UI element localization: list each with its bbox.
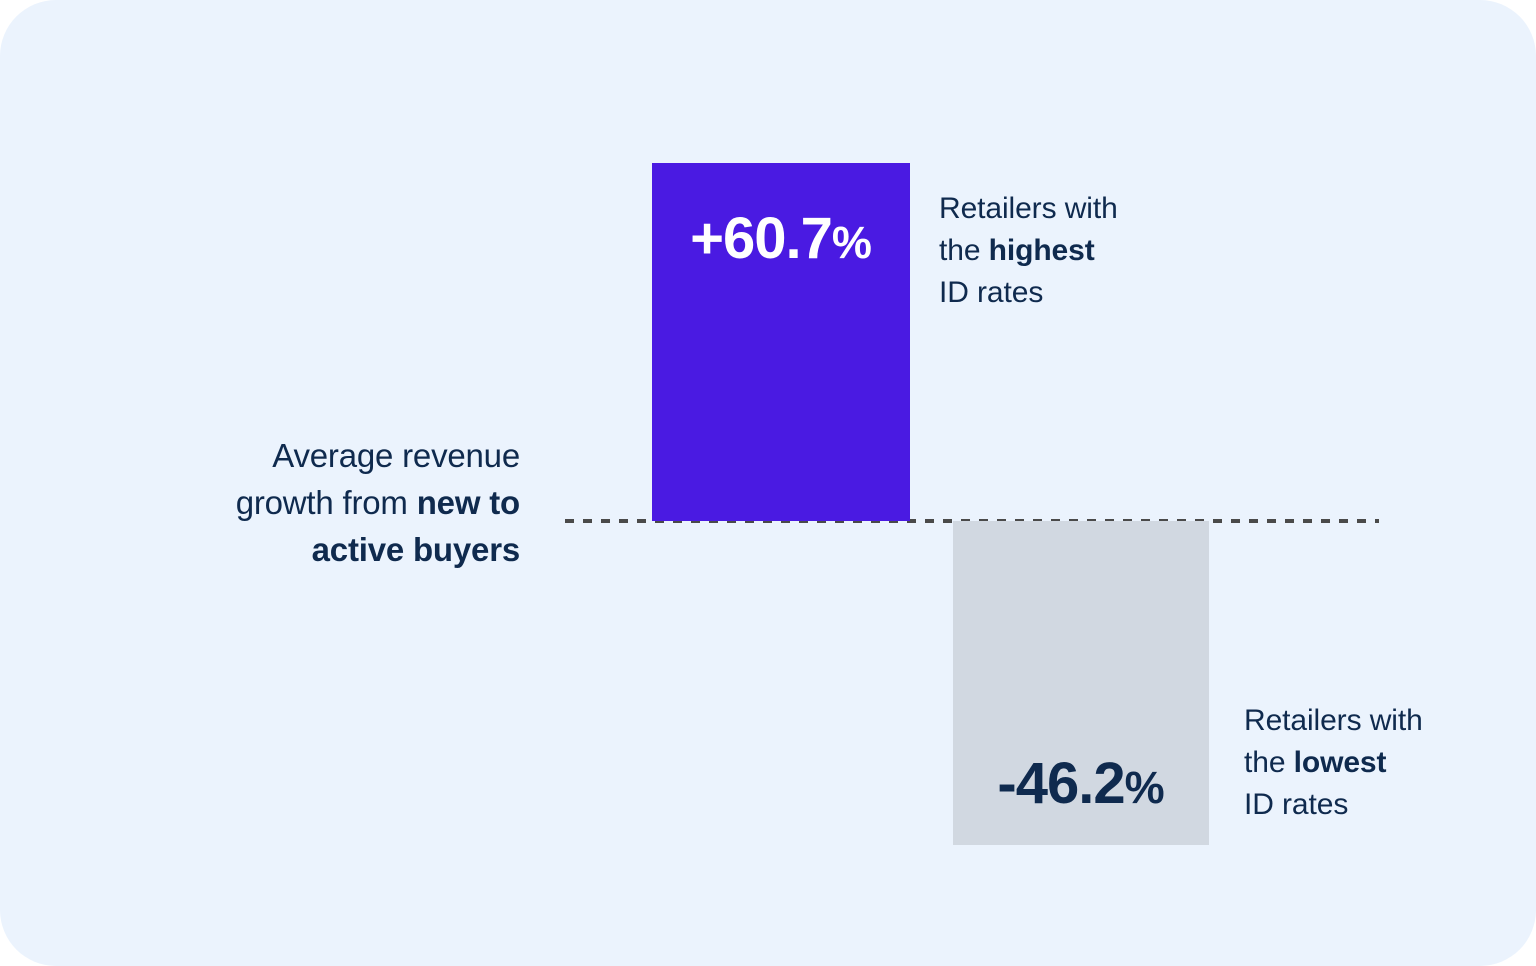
category-label-line-2-plain: growth from [236, 484, 417, 521]
category-label-line-3-bold: active buyers [312, 531, 520, 568]
chart-canvas: Average revenue growth from new to activ… [0, 0, 1536, 966]
annotation-lowest-line-3: ID rates [1244, 788, 1348, 821]
category-label-line-2-bold: new to [417, 484, 520, 521]
annotation-highest-id-rates: Retailers with the highest ID rates [939, 188, 1179, 314]
percent-sign-positive: % [832, 217, 872, 268]
bar-lowest-id-rates: -46.2% [953, 521, 1209, 845]
bar-value-number-negative: 46.2 [1016, 751, 1125, 816]
annotation-lowest-id-rates: Retailers with the lowest ID rates [1244, 700, 1484, 826]
annotation-lowest-line-1: Retailers with [1244, 704, 1423, 737]
percent-sign-negative: % [1125, 762, 1165, 813]
bar-value-label-negative: -46.2% [997, 750, 1164, 817]
category-label-line-1: Average revenue [272, 437, 520, 474]
bar-value-sign-positive: + [690, 206, 723, 271]
annotation-lowest-line-2-plain: the [1244, 746, 1294, 779]
bar-value-number-positive: 60.7 [723, 206, 832, 271]
annotation-highest-line-2-bold: highest [989, 234, 1095, 267]
bar-value-sign-negative: - [997, 751, 1015, 816]
bar-value-label-positive: +60.7% [690, 205, 872, 272]
annotation-highest-line-3: ID rates [939, 276, 1043, 309]
chart-category-label: Average revenue growth from new to activ… [120, 432, 520, 573]
annotation-lowest-line-2-bold: lowest [1294, 746, 1387, 779]
annotation-highest-line-1: Retailers with [939, 192, 1118, 225]
annotation-highest-line-2-plain: the [939, 234, 989, 267]
bar-highest-id-rates: +60.7% [652, 163, 910, 521]
